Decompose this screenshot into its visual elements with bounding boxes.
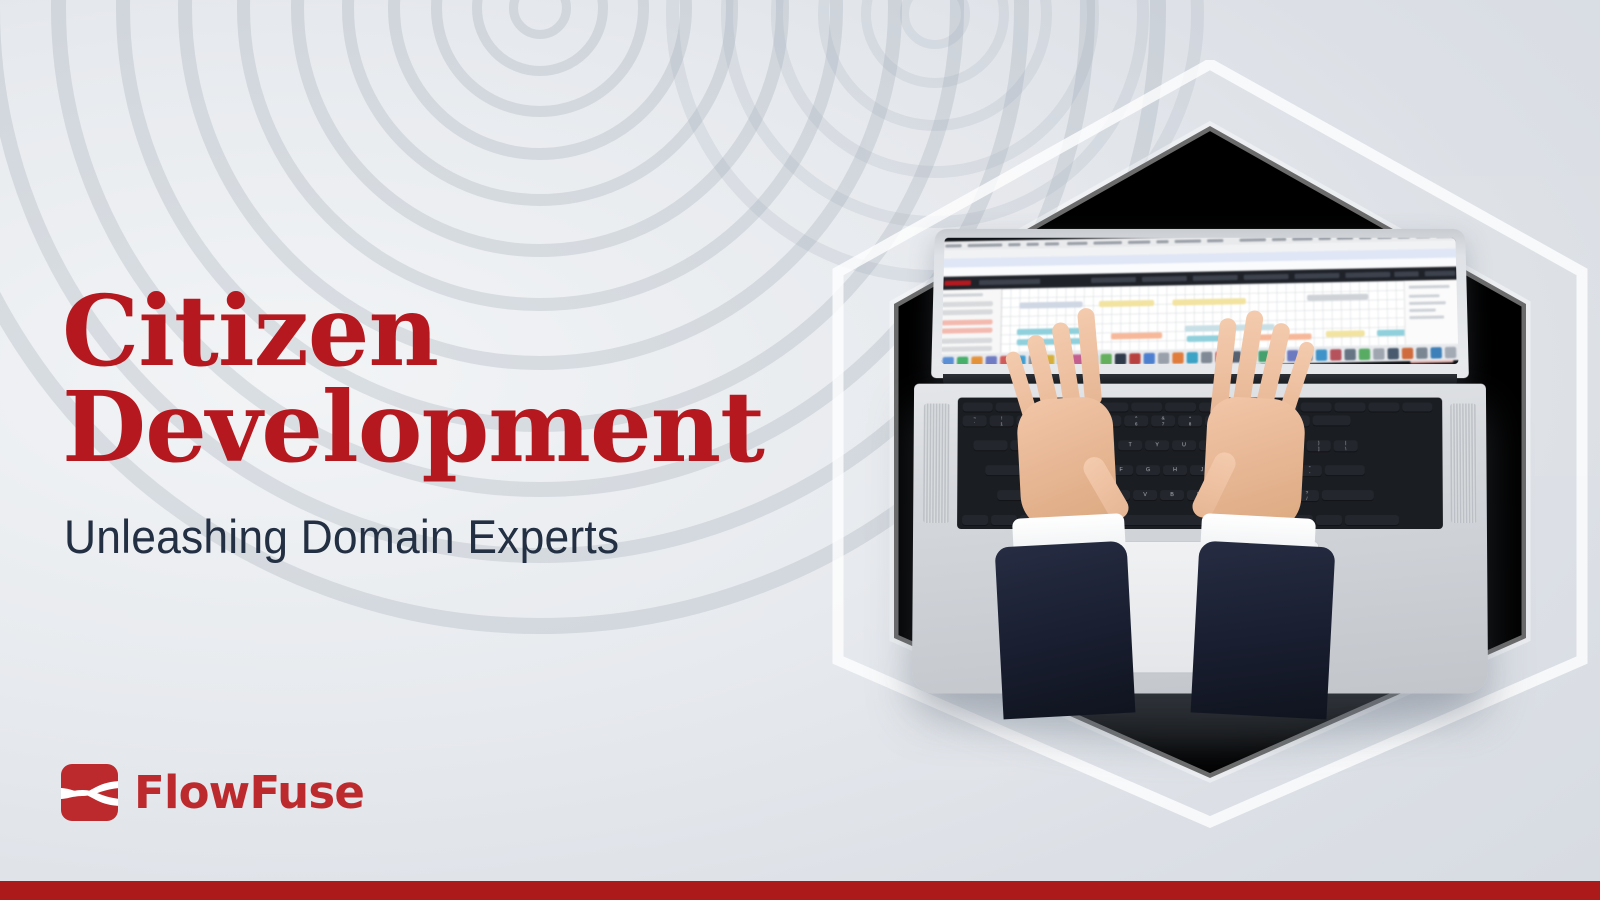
key-option-right[interactable] [1316,515,1342,526]
speaker-grille-left [923,404,950,523]
key-u[interactable]: U [1172,440,1196,451]
key-tab[interactable] [973,440,1007,451]
suit-sleeve-left [995,541,1136,720]
flow-node[interactable] [1326,330,1365,337]
banner-canvas: Citizen Development Unleashing Domain Ex… [0,0,1600,900]
key-fn[interactable] [962,515,988,526]
laptop-device: ~`!1@2#3$4%5^6&7*8(9)0—-+= QWERTYUIOP{[}… [905,228,1465,698]
bottom-accent-bar [0,881,1600,900]
flowfuse-wordmark: FlowFuse [134,770,364,815]
key-1[interactable]: !1 [990,415,1014,427]
key-y[interactable]: Y [1145,440,1169,451]
key-t[interactable]: T [1118,440,1142,451]
flowfuse-logo[interactable]: FlowFuse [61,764,364,821]
flow-node[interactable] [1099,300,1154,307]
speaker-grille-right [1450,404,1477,523]
key-backslash[interactable]: |\ [1334,440,1358,452]
key-backtick[interactable]: ~` [963,415,987,427]
flow-node[interactable] [1307,294,1368,301]
key-f6[interactable] [1165,403,1196,413]
key-f11[interactable] [1335,403,1366,413]
key-8[interactable]: *8 [1178,415,1202,427]
key-b[interactable]: B [1160,490,1184,501]
key-shift-right[interactable] [1322,490,1374,501]
flow-node[interactable] [1172,298,1245,306]
key-6[interactable]: ^6 [1124,415,1148,427]
page-subtitle: Unleashing Domain Experts [64,509,780,564]
flow-node[interactable] [1111,332,1162,339]
key-v[interactable]: V [1133,490,1157,501]
key-esc[interactable] [963,403,993,413]
page-title: Citizen Development [62,283,822,475]
key-f12[interactable] [1368,403,1399,413]
key-touchid[interactable] [1402,403,1432,413]
key-arrows[interactable] [1345,515,1399,526]
flowfuse-glyph-icon [61,764,118,821]
key-return[interactable] [1325,465,1365,476]
key-7[interactable]: &7 [1151,415,1175,427]
node-red-workspace [942,280,1459,355]
flow-node[interactable] [1019,301,1082,308]
key-h[interactable]: H [1163,465,1187,476]
suit-sleeve-right [1191,541,1336,720]
laptop-display [942,238,1459,364]
node-red-sidebar[interactable] [1404,280,1459,345]
copy-block: Citizen Development Unleashing Domain Ex… [62,283,822,564]
flowfuse-mark-icon [61,764,118,821]
key-f10[interactable] [1301,403,1332,413]
node-palette[interactable] [942,289,1003,354]
key-bracket-right[interactable]: }] [1307,440,1331,452]
key-g[interactable]: G [1136,465,1160,476]
key-f5[interactable] [1131,403,1162,413]
key-delete[interactable] [1313,415,1351,426]
node-red-editor-screenshot[interactable] [942,238,1459,364]
